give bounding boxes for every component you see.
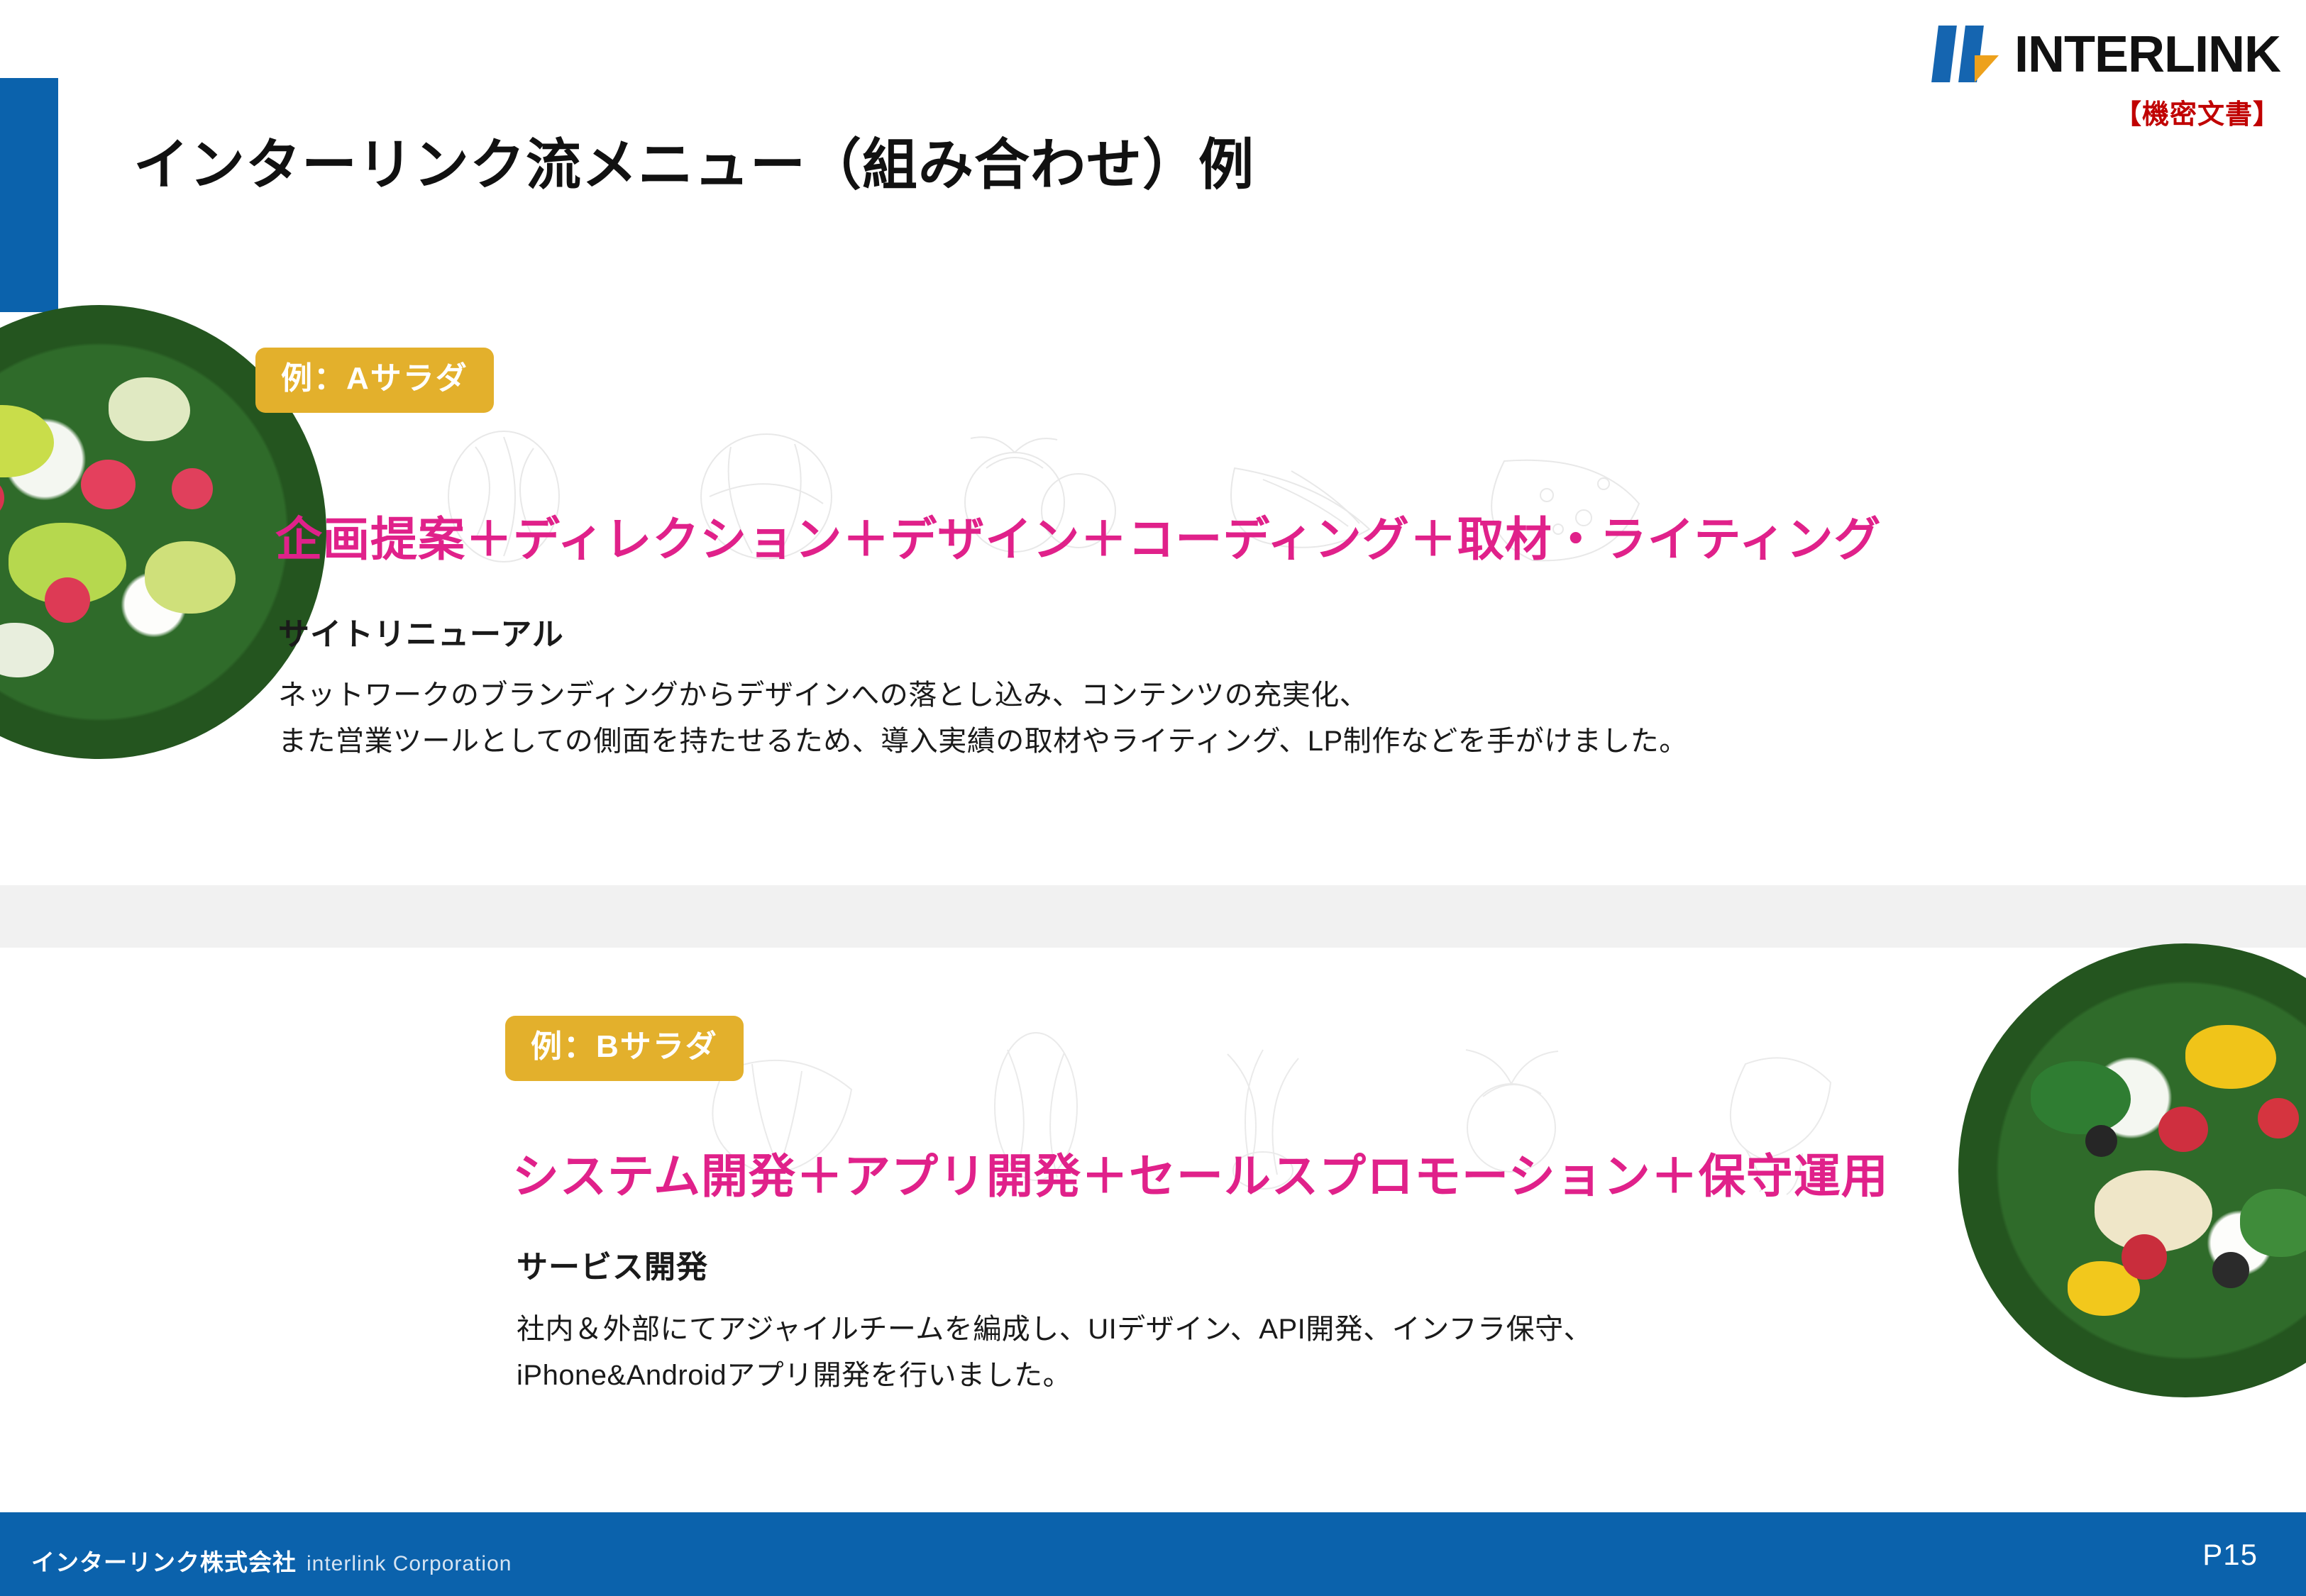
confidential-label: 【機密文書】 bbox=[1931, 92, 2280, 131]
section-subhead-a: サイトリニューアル bbox=[278, 609, 564, 654]
section-headline-a: 企画提案＋ディレクション＋デザイン＋コーディング＋取材・ライティング bbox=[275, 501, 1881, 570]
section-subhead-b: サービス開発 bbox=[517, 1241, 708, 1287]
footer-brand-jp: インターリンク株式会社 bbox=[31, 1544, 297, 1578]
title-accent-bar bbox=[0, 78, 58, 312]
logo-wordmark: INTERLINK bbox=[2014, 29, 2280, 80]
footer-brand-en: interlink Corporation bbox=[307, 1552, 512, 1576]
interlink-mark-icon bbox=[1931, 26, 1996, 84]
page-number: P15 bbox=[2202, 1538, 2258, 1572]
section-divider bbox=[0, 885, 2306, 948]
section-headline-b: システム開発＋アプリ開発＋セールスプロモーション＋保守運用 bbox=[512, 1138, 1889, 1207]
logo-row: INTERLINK bbox=[1931, 26, 2280, 84]
brand-logo-block: INTERLINK 【機密文書】 bbox=[1931, 26, 2280, 131]
page-title: インターリンク流メニュー（組み合わせ）例 bbox=[133, 121, 1254, 200]
footer-bar: インターリンク株式会社 interlink Corporation P15 bbox=[0, 1512, 2306, 1596]
footer-brand: インターリンク株式会社 interlink Corporation bbox=[31, 1544, 512, 1578]
example-badge-b: 例：Bサラダ bbox=[505, 1016, 744, 1081]
section-body-a: ネットワークのブランディングからデザインへの落とし込み、コンテンツの充実化、 ま… bbox=[278, 672, 1688, 765]
section-body-b: 社内＆外部にてアジャイルチームを編成し、UIデザイン、API開発、インフラ保守、… bbox=[517, 1307, 1592, 1399]
example-badge-a: 例：Aサラダ bbox=[255, 348, 494, 413]
